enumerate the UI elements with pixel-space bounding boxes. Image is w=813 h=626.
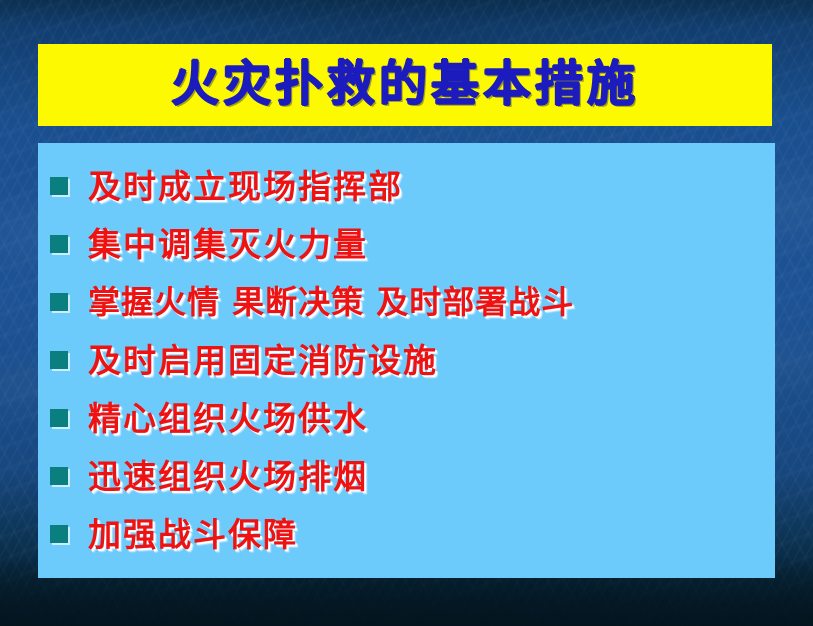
- bullet-item-4: 及时启用固定消防设施: [38, 331, 775, 389]
- bullet-label: 及时成立现场指挥部: [88, 170, 403, 203]
- square-bullet-icon: [50, 177, 68, 195]
- bullet-item-5: 精心组织火场供水: [38, 389, 775, 447]
- square-bullet-icon: [50, 293, 68, 311]
- square-bullet-icon: [50, 409, 68, 427]
- square-bullet-icon: [50, 235, 68, 253]
- square-bullet-icon: [50, 351, 68, 369]
- bullet-item-1: 及时成立现场指挥部: [38, 157, 775, 215]
- square-bullet-icon: [50, 525, 68, 543]
- presentation-slide: 火灾扑救的基本措施 及时成立现场指挥部 集中调集灭火力量 掌握火情 果断决策 及…: [0, 0, 813, 626]
- bullet-label: 迅速组织火场排烟: [88, 460, 368, 493]
- bullet-item-6: 迅速组织火场排烟: [38, 447, 775, 505]
- bullet-item-3: 掌握火情 果断决策 及时部署战斗: [38, 273, 775, 331]
- content-panel: 及时成立现场指挥部 集中调集灭火力量 掌握火情 果断决策 及时部署战斗 及时启用…: [38, 143, 775, 578]
- bullet-label: 掌握火情 果断决策 及时部署战斗: [88, 286, 574, 318]
- bullet-label: 加强战斗保障: [88, 518, 298, 551]
- bullet-label: 精心组织火场供水: [88, 402, 368, 435]
- title-banner: 火灾扑救的基本措施: [38, 44, 772, 126]
- bullet-label: 及时启用固定消防设施: [88, 344, 438, 377]
- bullet-label: 集中调集灭火力量: [88, 228, 368, 261]
- bullet-item-2: 集中调集灭火力量: [38, 215, 775, 273]
- bullet-item-7: 加强战斗保障: [38, 505, 775, 563]
- square-bullet-icon: [50, 467, 68, 485]
- slide-title: 火灾扑救的基本措施: [171, 60, 639, 108]
